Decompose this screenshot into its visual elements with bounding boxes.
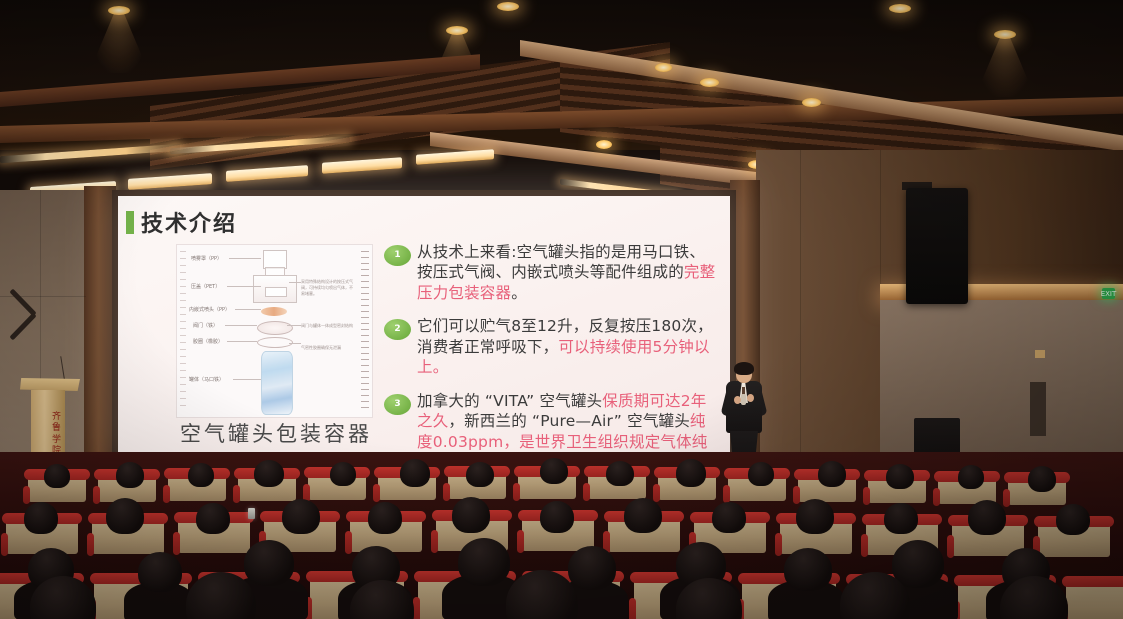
diagram-ruler-left — [180, 251, 186, 411]
wall-outlet — [1035, 350, 1045, 358]
audience-head — [458, 538, 510, 586]
diagram-part-stem — [265, 287, 287, 297]
slide-bullet-item: 1 从技术上来看:空气罐头指的是用马口铁、按压式气阀、内嵌式喷头等配件组成的完整… — [384, 242, 720, 303]
audience-head — [886, 464, 914, 489]
slide-bullet-list: 1 从技术上来看:空气罐头指的是用马口铁、按压式气阀、内嵌式喷头等配件组成的完整… — [384, 242, 720, 456]
exit-sign-label: EXIT — [1101, 290, 1117, 298]
diagram-leader-line — [289, 282, 301, 283]
audience-area — [0, 452, 1123, 619]
audience-head — [796, 499, 834, 534]
projection-screen: 技术介绍 喷雾罩（PP） 压盖（PET） 内嵌式喷头（PP） — [118, 196, 730, 456]
audience-head — [1056, 504, 1090, 535]
audience-head — [452, 497, 490, 533]
title-accent-bar — [126, 211, 134, 234]
audience-head — [244, 540, 294, 586]
audience-head — [540, 501, 574, 533]
ceiling-light-panel — [322, 157, 402, 174]
product-diagram: 喷雾罩（PP） 压盖（PET） 内嵌式喷头（PP） 阀门（铁） 胶圈（橡胶） 罐… — [176, 244, 373, 418]
diagram-leader-line — [227, 286, 261, 287]
auditorium-photo: EXIT 技术介绍 喷雾罩（PP） — [0, 0, 1123, 619]
presenter-hair — [734, 362, 754, 375]
audience-head — [196, 503, 230, 534]
wall-seam — [800, 150, 801, 480]
slide-bullet-item: 2 它们可以贮气8至12升，反复按压180次，消费者正常呼吸下，可以持续使用5分… — [384, 316, 720, 377]
audience-head — [138, 552, 182, 592]
audience-head — [568, 546, 616, 590]
presenter-hand — [747, 394, 754, 402]
bullet-plain-text: 。 — [511, 284, 527, 302]
audience-head — [282, 499, 320, 534]
wall-vent — [1030, 382, 1046, 436]
audience-head — [44, 464, 70, 488]
audience-head — [368, 502, 402, 534]
audience-head — [676, 459, 706, 487]
diagram-leader-line — [225, 325, 257, 326]
audience-head — [818, 461, 846, 487]
diagram-leader-line — [233, 379, 261, 380]
diagram-label: 罐体（马口铁） — [189, 376, 224, 383]
bullet-text: 加拿大的 “VITA” 空气罐头保质期可达2年之久，新西兰的 “Pure—Air… — [417, 391, 720, 456]
diagram-label: 喷雾罩（PP） — [191, 255, 222, 262]
diagram-label: 压盖（PET） — [191, 283, 220, 290]
ceiling-spotlight-icon — [889, 4, 911, 13]
diagram-leader-line — [289, 343, 301, 344]
diagram-leader-line — [227, 341, 257, 342]
audience-head — [968, 500, 1006, 535]
diagram-ruler-right — [361, 251, 369, 411]
ceiling-light-panel — [128, 173, 212, 190]
audience-head — [466, 462, 494, 487]
diagram-leader-line — [229, 258, 261, 259]
slide-title: 技术介绍 — [141, 206, 237, 238]
bullet-number-badge: 1 — [384, 245, 411, 266]
diagram-note: 气密性胶圈确保无泄漏 — [301, 345, 353, 351]
audience-head — [540, 458, 568, 484]
beam-downlight-icon — [655, 63, 672, 72]
bullet-number-badge: 2 — [384, 319, 411, 340]
audience-head — [1028, 466, 1056, 492]
audience-head — [116, 462, 144, 488]
audience-head — [884, 503, 918, 534]
slide-caption: 空气罐头包装容器 — [166, 418, 386, 448]
presenter-microphone-icon — [741, 394, 746, 405]
audience-head — [400, 459, 430, 487]
slide-bullet-item: 3 加拿大的 “VITA” 空气罐头保质期可达2年之久，新西兰的 “Pure—A… — [384, 391, 720, 456]
diagram-label: 阀门（铁） — [193, 322, 218, 329]
diagram-part-valve-ring — [257, 321, 293, 335]
audience-phone — [248, 508, 255, 519]
audience-head — [188, 463, 214, 487]
bullet-text: 它们可以贮气8至12升，反复按压180次，消费者正常呼吸下，可以持续使用5分钟以… — [417, 316, 720, 377]
lectern-emblem-text: 齐鲁学院 — [51, 412, 63, 457]
audience-head — [748, 462, 774, 486]
exit-sign-icon: EXIT — [1102, 288, 1115, 299]
diagram-label: 胶圈（橡胶） — [193, 338, 223, 345]
audience-head — [624, 498, 662, 533]
ceiling-spotlight-icon — [497, 2, 519, 11]
presentation-slide: 技术介绍 喷雾罩（PP） 压盖（PET） 内嵌式喷头（PP） — [118, 196, 730, 456]
audience-head — [958, 465, 984, 489]
bullet-text: 从技术上来看:空气罐头指的是用马口铁、按压式气阀、内嵌式喷头等配件组成的完整压力… — [417, 242, 720, 303]
ceiling-light-panel — [226, 165, 308, 182]
diagram-note: 采用特殊结构设计的按压式气阀，可持续均匀喷出气体，不易堵塞。 — [301, 279, 353, 297]
bullet-plain-text: ，新西兰的 “Pure—Air” 空气罐头 — [448, 412, 690, 430]
bullet-number-badge: 3 — [384, 394, 411, 415]
audience-head — [106, 498, 144, 534]
beam-downlight-icon — [802, 98, 821, 107]
audience-head — [712, 502, 746, 533]
beam-downlight-icon — [596, 140, 612, 149]
diagram-note: 阀门与罐体一体成型密封结构 — [301, 323, 353, 329]
auditorium-seat — [1066, 579, 1123, 619]
audience-head — [254, 460, 284, 487]
presenter-hand — [734, 396, 741, 404]
audience-head — [24, 502, 58, 534]
audience-head — [606, 461, 634, 486]
ceiling-light-panel — [416, 149, 494, 164]
diagram-label: 内嵌式喷头（PP） — [189, 306, 230, 313]
beam-downlight-icon — [700, 78, 719, 87]
slide-title-group: 技术介绍 — [126, 206, 237, 238]
hanging-loudspeaker — [906, 188, 968, 304]
diagram-part-spray-tip — [261, 307, 287, 316]
diagram-part-gasket — [257, 337, 293, 348]
diagram-part-can-body — [261, 351, 293, 415]
diagram-leader-line — [235, 309, 261, 310]
bullet-plain-text: 加拿大的 “VITA” 空气罐头 — [417, 392, 602, 410]
bullet-plain-text: 从技术上来看:空气罐头指的是用马口铁、按压式气阀、内嵌式喷头等配件组成的 — [417, 243, 705, 281]
diagram-leader-line — [287, 325, 301, 326]
audience-head — [784, 548, 832, 591]
audience-head — [330, 462, 356, 486]
